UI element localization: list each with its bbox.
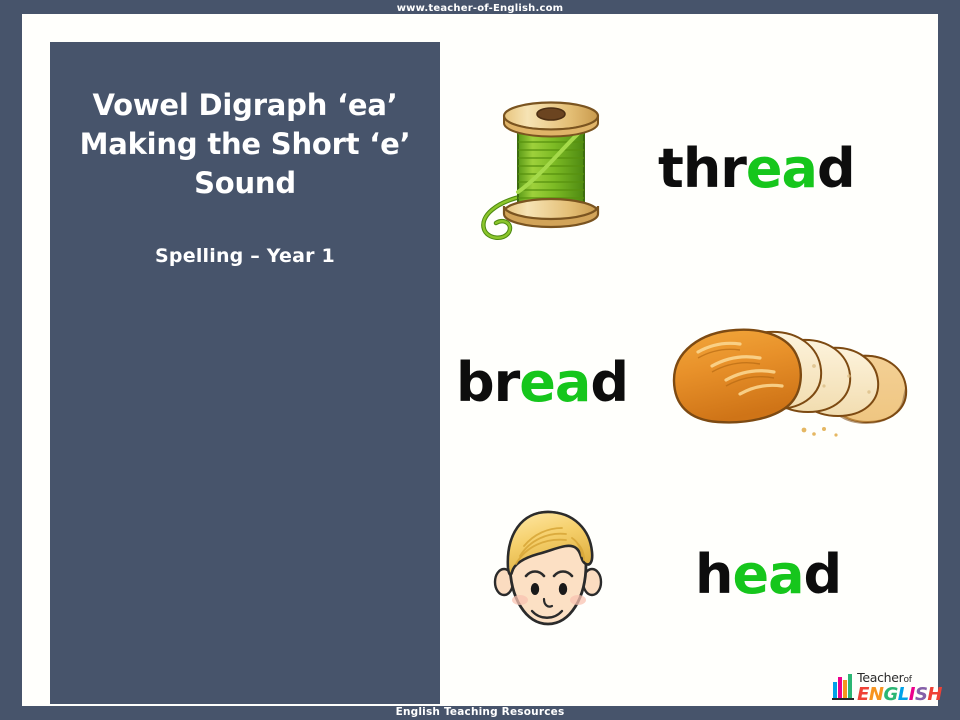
child-head-face-illustration (480, 498, 615, 652)
title-line-2: Making the Short ‘e’ (68, 125, 422, 164)
logo-english-letter-1: N (869, 684, 884, 705)
word-head-prefix: h (695, 543, 732, 606)
page-title: Vowel Digraph ‘ea’ Making the Short ‘e’ … (68, 86, 422, 203)
slide-page: Vowel Digraph ‘ea’ Making the Short ‘e’ … (22, 14, 938, 706)
word-row-head: head (480, 498, 841, 652)
logo-english-letter-2: G (883, 684, 897, 705)
slide: www.teacher-of-English.com Vowel Digraph… (0, 0, 960, 720)
word-bread-prefix: br (456, 351, 519, 414)
word-head-digraph: ea (732, 543, 803, 606)
logo-english-word: ENGLISH (857, 686, 942, 704)
word-bread-suffix: d (590, 351, 628, 414)
word-thread-suffix: d (817, 137, 855, 200)
title-line-1: Vowel Digraph ‘ea’ (68, 86, 422, 125)
word-head-suffix: d (804, 543, 842, 606)
title-line-3: Sound (68, 164, 422, 203)
word-row-bread: bread (456, 318, 914, 447)
logo-english-letter-5: S (915, 684, 927, 705)
word-thread-digraph: ea (746, 137, 817, 200)
logo-english-letter-3: L (898, 684, 909, 705)
word-thread: thread (658, 142, 855, 196)
word-row-thread: thread (466, 84, 855, 253)
logo-text: Teacherof ENGLISH (857, 672, 942, 704)
logo-english-letter-0: E (857, 684, 869, 705)
book-stack-icon (832, 672, 854, 704)
title-sidebar-panel: Vowel Digraph ‘ea’ Making the Short ‘e’ … (50, 42, 440, 704)
word-bread-digraph: ea (519, 351, 590, 414)
thread-spool-illustration (466, 84, 616, 253)
word-bread: bread (456, 356, 628, 410)
sliced-bread-loaf-illustration (664, 318, 914, 447)
word-thread-prefix: thr (658, 137, 746, 200)
logo-teacher-word: Teacher (857, 670, 903, 685)
bottom-banner-tagline: English Teaching Resources (0, 704, 960, 720)
logo-english-letter-6: H (927, 684, 942, 705)
content-area: thread bread (440, 28, 960, 720)
teacher-of-english-logo: Teacherof ENGLISH (832, 672, 942, 704)
subtitle-spelling-year: Spelling – Year 1 (68, 245, 422, 267)
word-head: head (695, 548, 841, 602)
